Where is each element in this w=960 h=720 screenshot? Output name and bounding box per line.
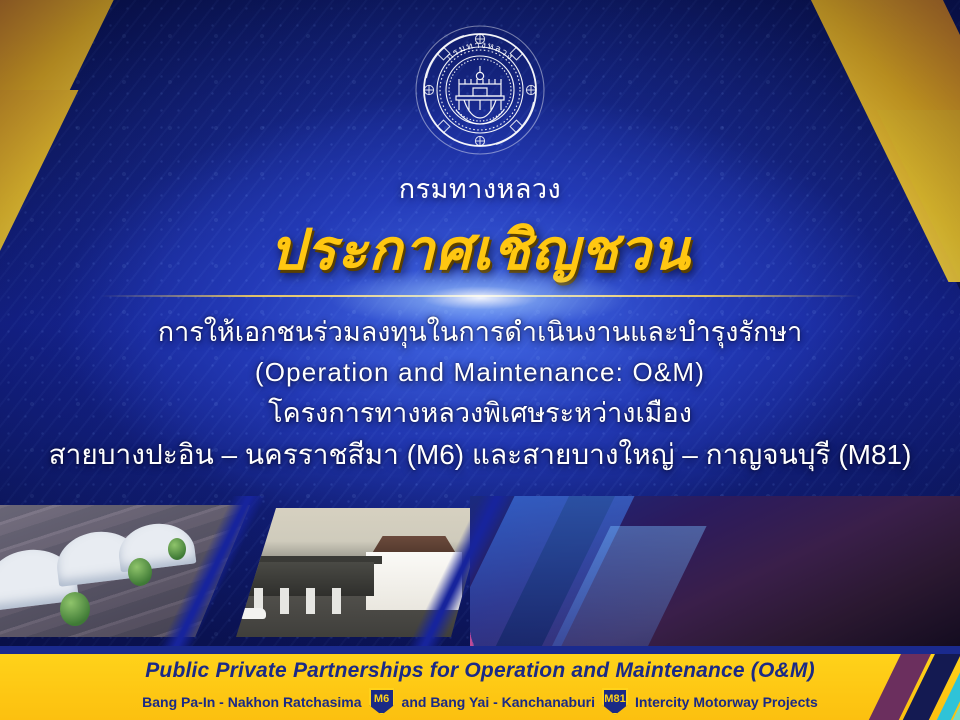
route-segment-2: Intercity Motorway Projects bbox=[635, 694, 818, 710]
route-connector: and Bang Yai - Kanchanaburi bbox=[402, 694, 595, 710]
subtitle-line-1: การให้เอกชนร่วมลงทุนในการดำเนินงานและบำร… bbox=[0, 312, 960, 353]
photo-strip bbox=[0, 496, 960, 646]
subtitle-line-4: สายบางปะอิน – นครราชสีมา (M6) และสายบางใ… bbox=[0, 434, 960, 477]
gold-divider-line bbox=[100, 295, 860, 297]
photo-night-light-trails bbox=[470, 496, 960, 646]
svg-text:กรมทางหลวง: กรมทางหลวง bbox=[444, 40, 515, 63]
footer-top-navy-strip bbox=[0, 646, 960, 654]
toll-booth bbox=[280, 588, 289, 614]
route-segment-1: Bang Pa-In - Nakhon Ratchasima bbox=[142, 694, 361, 710]
car-shape bbox=[240, 608, 266, 619]
tree-shape bbox=[60, 592, 90, 626]
announcement-poster: กรมทางหลวง กรมทางหลวง ประกาศเชิญชวน การใ… bbox=[0, 0, 960, 720]
department-of-highways-seal-icon: กรมทางหลวง bbox=[412, 22, 548, 158]
footer-band: Public Private Partnerships for Operatio… bbox=[0, 654, 960, 720]
m81-motorway-badge-icon: M81 bbox=[602, 688, 628, 715]
subtitle-line-2: (Operation and Maintenance: O&M) bbox=[0, 353, 960, 393]
tree-shape bbox=[168, 538, 186, 560]
toll-booth bbox=[306, 588, 315, 614]
organization-logo-block: กรมทางหลวง กรมทางหลวง bbox=[0, 22, 960, 210]
tree-shape bbox=[128, 558, 152, 586]
footer-corner-accent bbox=[796, 654, 960, 720]
organization-name: กรมทางหลวง bbox=[0, 167, 960, 210]
m6-motorway-badge-icon: M6 bbox=[369, 688, 395, 715]
toll-booth bbox=[332, 588, 341, 614]
page-title: ประกาศเชิญชวน bbox=[0, 222, 960, 278]
subtitle-block: การให้เอกชนร่วมลงทุนในการดำเนินงานและบำร… bbox=[0, 312, 960, 476]
subtitle-line-3: โครงการทางหลวงพิเศษระหว่างเมือง bbox=[0, 393, 960, 434]
